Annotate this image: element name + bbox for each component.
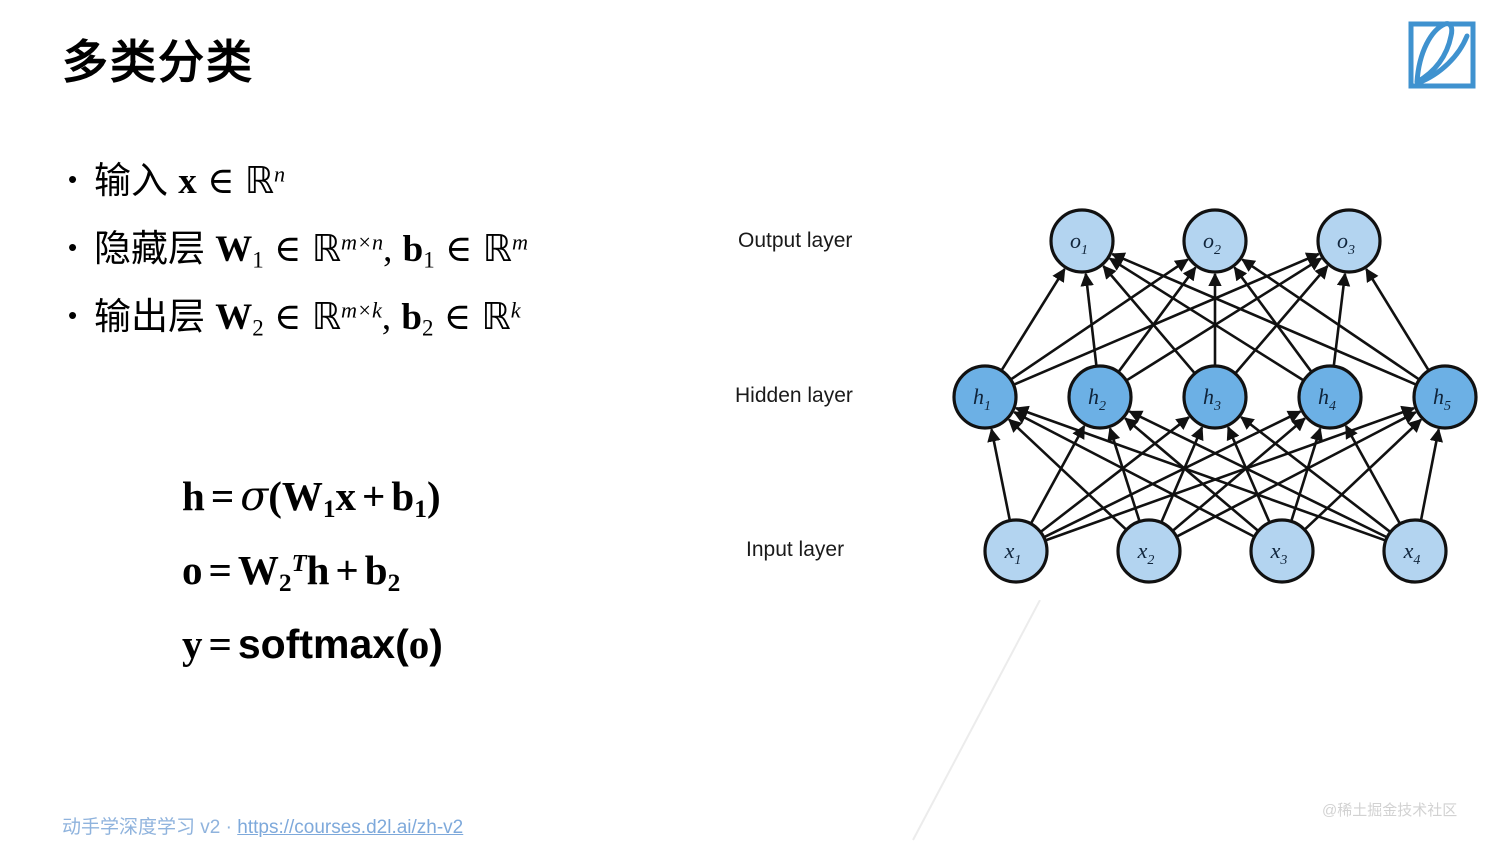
bullet-list: • 输入 x ∈ ℝn • 隐藏层 W1 ∈ ℝm×n, b1 ∈ ℝm • (68, 155, 748, 359)
eq-w: W (238, 547, 279, 593)
node-circle[interactable] (1251, 520, 1313, 582)
bullet-sub-w: 2 (252, 315, 263, 340)
bullet-sub-w: 1 (252, 247, 263, 272)
bullet-label: 输入 (94, 160, 168, 201)
eq-lhs: h (182, 473, 205, 519)
decorative-guide-line (905, 600, 1045, 843)
network-edge (1366, 269, 1428, 370)
node-circle[interactable] (1184, 366, 1246, 428)
network-node[interactable]: h4 (1299, 366, 1361, 428)
node-circle[interactable] (1118, 520, 1180, 582)
bullet-label: 隐藏层 (94, 228, 205, 269)
bullet-comma: , (382, 297, 391, 338)
network-edge (1014, 412, 1254, 537)
node-circle[interactable] (985, 520, 1047, 582)
bullet-exponent-w: m×k (341, 297, 382, 322)
network-edge (1177, 412, 1416, 536)
network-edge (1346, 426, 1400, 524)
network-edge (1305, 420, 1421, 530)
equation-hidden-activation: h=σ(W1x+b1) (182, 472, 443, 524)
bullet-exponent-w: m×n (341, 229, 383, 254)
network-edge (1011, 260, 1188, 380)
eq-lhs: o (182, 547, 203, 593)
eq-h: h (307, 547, 330, 593)
bullet-relation: ∈ (274, 297, 301, 338)
node-label-subscript: 2 (1147, 553, 1154, 568)
network-node[interactable]: o2 (1184, 210, 1246, 272)
eq-equals: = (205, 473, 240, 519)
layer-label-output: Output layer (738, 229, 852, 253)
network-edge (1031, 426, 1084, 524)
node-circle[interactable] (1299, 366, 1361, 428)
network-edge (1001, 269, 1064, 371)
layer-label-hidden: Hidden layer (735, 384, 853, 408)
eq-b-sub: 1 (414, 495, 427, 523)
node-label-subscript: 4 (1413, 553, 1420, 568)
bullet-symbol: x (178, 161, 197, 202)
network-edge (1235, 268, 1312, 372)
bullet-space-b: ℝ (481, 295, 510, 338)
slide-canvas: 多类分类 • 输入 x ∈ ℝn • 隐藏层 W1 ∈ ℝm×n, (0, 0, 1512, 843)
node-circle[interactable] (1069, 366, 1131, 428)
d2l-book-logo-icon (1401, 14, 1487, 94)
bullet-space-b: ℝ (483, 227, 512, 270)
neural-network-diagram: h1h2h3h4h5x1x2x3x4o1o2o3 (930, 185, 1490, 605)
eq-function-name: softmax (238, 621, 395, 667)
bullet-space: ℝ (245, 159, 274, 202)
bullet-symbol-b: b (403, 229, 424, 270)
network-edge (1421, 429, 1439, 520)
network-edge (1009, 420, 1126, 530)
bullet-sub-b: 1 (423, 247, 434, 272)
eq-b: b (365, 547, 388, 593)
eq-x: x (336, 473, 357, 519)
eq-plus: + (356, 473, 391, 519)
bullet-relation: ∈ (274, 229, 301, 270)
footer-credit: 动手学深度学习 v2 · https://courses.d2l.ai/zh-v… (62, 812, 463, 839)
network-node[interactable]: o3 (1318, 210, 1380, 272)
node-label-subscript: 2 (1099, 399, 1106, 414)
bullet-space-w: ℝ (312, 295, 341, 338)
network-node[interactable]: h5 (1414, 366, 1476, 428)
footer-course-name: 动手学深度学习 v2 (62, 817, 220, 838)
eq-w: W (282, 473, 323, 519)
network-node[interactable]: x3 (1251, 520, 1313, 582)
eq-w-sub: 1 (323, 495, 336, 523)
network-edge (1118, 268, 1195, 372)
layer-label-input: Input layer (746, 538, 844, 562)
list-item: • 输出层 W2 ∈ ℝm×k, b2 ∈ ℝk (68, 291, 748, 345)
network-node[interactable]: h2 (1069, 366, 1131, 428)
network-edge (1228, 427, 1269, 522)
node-circle[interactable] (1414, 366, 1476, 428)
eq-equals: = (203, 547, 238, 593)
eq-w-sup-transpose: T (292, 550, 307, 577)
bullet-content: 输出层 W2 ∈ ℝm×k, b2 ∈ ℝk (94, 291, 521, 345)
eq-open-paren: ( (268, 473, 282, 519)
node-label-subscript: 1 (1014, 553, 1021, 568)
eq-close-paren: ) (427, 473, 441, 519)
watermark-label: @稀土掘金技术社区 (1322, 799, 1457, 820)
bullet-exponent: n (274, 161, 285, 186)
bullet-symbol-b: b (401, 297, 422, 338)
node-label-subscript: 3 (1213, 399, 1221, 414)
bullet-symbol-w: W (215, 229, 252, 270)
node-circle[interactable] (1051, 210, 1113, 272)
bullet-marker: • (68, 223, 94, 272)
bullet-sub-b: 2 (422, 315, 433, 340)
bullet-content: 输入 x ∈ ℝn (94, 155, 285, 209)
network-edge (1242, 260, 1419, 380)
equation-output: o=W2Th+b2 (182, 546, 443, 598)
eq-sigma: σ (240, 472, 268, 520)
bullet-exponent-b: k (511, 297, 521, 322)
eq-lhs: y (182, 621, 203, 667)
eq-w-sub: 2 (279, 569, 292, 597)
bullet-comma: , (383, 229, 392, 270)
list-item: • 输入 x ∈ ℝn (68, 155, 748, 209)
eq-plus: + (329, 547, 364, 593)
node-label-subscript: 5 (1444, 399, 1451, 414)
bullet-relation-2: ∈ (445, 229, 472, 270)
node-label-subscript: 3 (1279, 553, 1287, 568)
bullet-marker: • (68, 291, 94, 340)
bullet-symbol-w: W (215, 297, 252, 338)
node-label-subscript: 3 (1347, 243, 1355, 258)
eq-equals: = (203, 621, 238, 667)
output-layer-nodes: o1o2o3 (1051, 210, 1380, 272)
network-svg: h1h2h3h4h5x1x2x3x4o1o2o3 (930, 185, 1490, 605)
eq-close-paren: ) (429, 621, 443, 667)
bullet-exponent-b: m (512, 229, 528, 254)
network-node[interactable]: x1 (985, 520, 1047, 582)
bullet-content: 隐藏层 W1 ∈ ℝm×n, b1 ∈ ℝm (94, 223, 528, 277)
node-circle[interactable] (1384, 520, 1446, 582)
bullet-relation: ∈ (207, 161, 234, 202)
network-node[interactable]: x2 (1118, 520, 1180, 582)
footer-course-url[interactable]: https://courses.d2l.ai/zh-v2 (237, 817, 463, 838)
equation-softmax: y=softmax(o) (182, 620, 443, 668)
node-label-subscript: 1 (1081, 243, 1088, 258)
node-label-subscript: 1 (984, 399, 991, 414)
node-circle[interactable] (1184, 210, 1246, 272)
network-edge (992, 429, 1010, 520)
node-circle[interactable] (954, 366, 1016, 428)
list-item: • 隐藏层 W1 ∈ ℝm×n, b1 ∈ ℝm (68, 223, 748, 277)
eq-b: b (391, 473, 414, 519)
eq-b-sub: 2 (388, 569, 401, 597)
network-node[interactable]: h1 (954, 366, 1016, 428)
equation-block: h=σ(W1x+b1) o=W2Th+b2 y=softmax(o) (182, 472, 443, 690)
network-edge (1126, 259, 1321, 381)
network-edge (1110, 259, 1304, 381)
node-label-subscript: 4 (1329, 399, 1336, 414)
network-edge (1161, 427, 1202, 522)
bullet-label: 输出层 (94, 296, 205, 337)
node-label-subscript: 2 (1214, 243, 1221, 258)
network-node[interactable]: o1 (1051, 210, 1113, 272)
eq-open-paren: ( (395, 621, 409, 667)
bullet-marker: • (68, 155, 94, 204)
eq-arg: o (409, 621, 430, 667)
page-title: 多类分类 (62, 26, 254, 92)
network-node[interactable]: h3 (1184, 366, 1246, 428)
bullet-space-w: ℝ (312, 227, 341, 270)
node-circle[interactable] (1318, 210, 1380, 272)
bullet-relation-2: ∈ (444, 297, 471, 338)
input-layer-nodes: x1x2x3x4 (985, 520, 1446, 582)
network-node[interactable]: x4 (1384, 520, 1446, 582)
footer-separator: · (220, 817, 237, 838)
